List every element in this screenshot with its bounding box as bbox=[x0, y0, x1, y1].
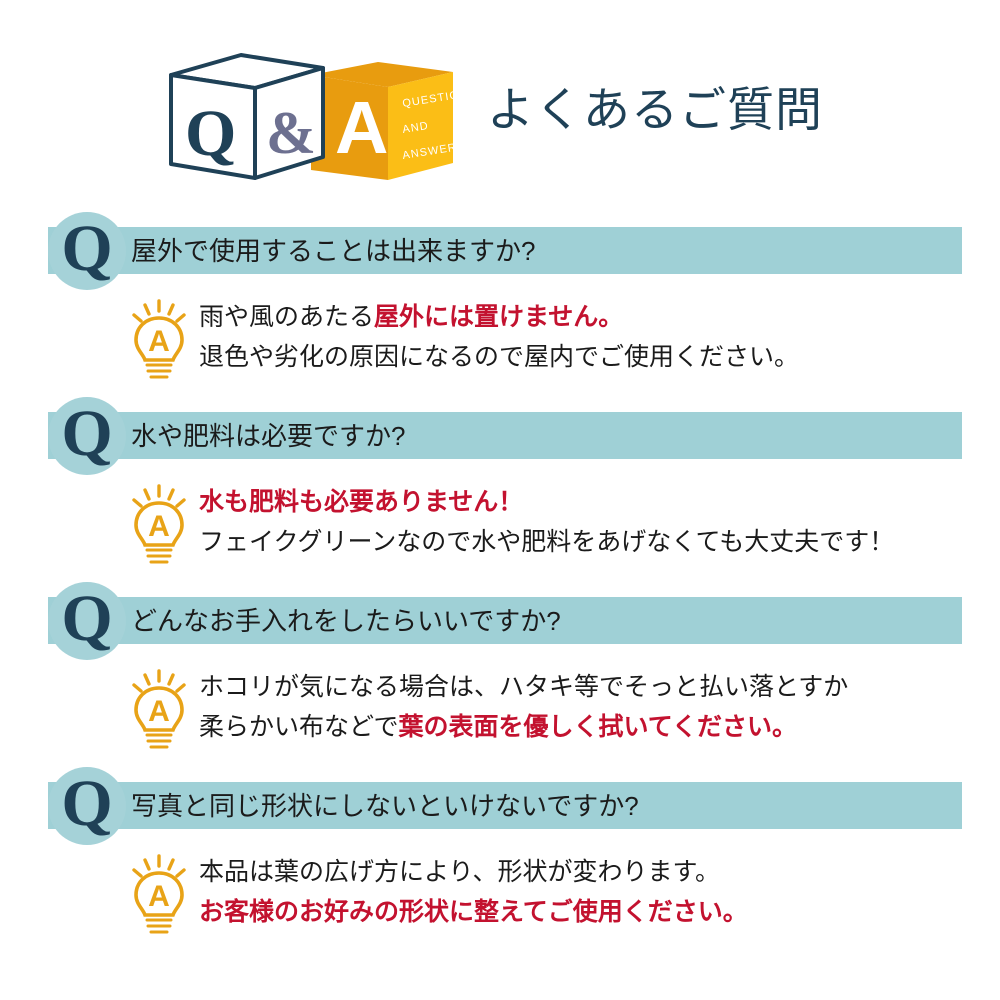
svg-text:A: A bbox=[148, 325, 170, 358]
faq-question-row: Q 写真と同じ形状にしないといけないですか? bbox=[0, 760, 1000, 852]
question-badge: Q bbox=[48, 212, 126, 290]
svg-text:A: A bbox=[148, 880, 170, 913]
faq-question-row: Q 水や肥料は必要ですか? bbox=[0, 390, 1000, 482]
answer-segment-highlight: 屋外には置けません。 bbox=[374, 303, 623, 331]
answer-segment: ホコリが気になる場合は、ハタキ等でそっと払い落とすか bbox=[199, 673, 848, 701]
answer-line: 退色や劣化の原因になるので屋内でご使用ください。 bbox=[199, 337, 799, 377]
white-cube: Q & bbox=[171, 55, 323, 178]
question-badge: Q bbox=[48, 397, 126, 475]
question-letter: Q bbox=[61, 586, 112, 652]
answer-line: 本品は葉の広げ方により、形状が変わります。 bbox=[199, 852, 748, 892]
orange-cube: A QUESTION AND ANSWER bbox=[311, 62, 463, 180]
question-letter: Q bbox=[61, 401, 112, 467]
page-title: よくあるご質問 bbox=[487, 86, 823, 133]
answer-line: ホコリが気になる場合は、ハタキ等でそっと払い落とすか bbox=[199, 667, 848, 707]
question-text: 屋外で使用することは出来ますか? bbox=[131, 232, 535, 270]
question-text: 写真と同じ形状にしないといけないですか? bbox=[131, 787, 639, 825]
answer-text: 雨や風のあたる屋外には置けません。 退色や劣化の原因になるので屋内でご使用くださ… bbox=[199, 297, 799, 377]
question-text: どんなお手入れをしたらいいですか? bbox=[131, 602, 561, 640]
answer-segment: フェイクグリーンなので水や肥料をあげなくても大丈夫です！ bbox=[199, 528, 894, 556]
question-letter: Q bbox=[61, 216, 112, 282]
qa-cube-logo: A QUESTION AND ANSWER Q & bbox=[163, 45, 463, 185]
answer-segment-highlight: お客様のお好みの形状に整えてご使用ください。 bbox=[199, 898, 748, 926]
answer-segment-highlight: 水も肥料も必要ありません！ bbox=[199, 488, 523, 516]
qa-cube-logo-svg: A QUESTION AND ANSWER Q & bbox=[163, 45, 463, 185]
answer-line: フェイクグリーンなので水や肥料をあげなくても大丈夫です！ bbox=[199, 522, 894, 562]
faq-list: Q 屋外で使用することは出来ますか? bbox=[0, 205, 1000, 945]
answer-segment: 柔らかい布などで bbox=[199, 713, 399, 741]
faq-question-row: Q 屋外で使用することは出来ますか? bbox=[0, 205, 1000, 297]
question-text: 水や肥料は必要ですか? bbox=[131, 417, 405, 455]
answer-text: 本品は葉の広げ方により、形状が変わります。 お客様のお好みの形状に整えてご使用く… bbox=[199, 852, 748, 932]
question-letter: Q bbox=[61, 771, 112, 837]
lightbulb-answer-icon: A bbox=[128, 669, 190, 755]
faq-item: Q どんなお手入れをしたらいいですか? bbox=[0, 575, 1000, 760]
answer-segment: 雨や風のあたる bbox=[199, 303, 374, 331]
svg-text:A: A bbox=[148, 695, 170, 728]
answer-segment: 本品は葉の広げ方により、形状が変わります。 bbox=[199, 858, 720, 886]
faq-item: Q 水や肥料は必要ですか? bbox=[0, 390, 1000, 575]
lightbulb-answer-icon: A bbox=[128, 299, 190, 385]
svg-text:&: & bbox=[266, 100, 316, 166]
faq-question-row: Q どんなお手入れをしたらいいですか? bbox=[0, 575, 1000, 667]
answer-segment: 退色や劣化の原因になるので屋内でご使用ください。 bbox=[199, 343, 799, 371]
faq-item: Q 屋外で使用することは出来ますか? bbox=[0, 205, 1000, 390]
question-badge: Q bbox=[48, 582, 126, 660]
question-badge: Q bbox=[48, 767, 126, 845]
lightbulb-answer-icon: A bbox=[128, 854, 190, 940]
answer-text: ホコリが気になる場合は、ハタキ等でそっと払い落とすか 柔らかい布などで葉の表面を… bbox=[199, 667, 848, 747]
svg-text:A: A bbox=[148, 510, 170, 543]
page-header: A QUESTION AND ANSWER Q & よくあるご質問 bbox=[0, 0, 1000, 205]
svg-text:Q: Q bbox=[185, 97, 236, 170]
answer-line: 水も肥料も必要ありません！ bbox=[199, 482, 894, 522]
svg-text:A: A bbox=[335, 86, 388, 169]
lightbulb-answer-icon: A bbox=[128, 484, 190, 570]
answer-line: お客様のお好みの形状に整えてご使用ください。 bbox=[199, 892, 748, 932]
faq-item: Q 写真と同じ形状にしないといけないですか? bbox=[0, 760, 1000, 945]
answer-line: 雨や風のあたる屋外には置けません。 bbox=[199, 297, 799, 337]
answer-line: 柔らかい布などで葉の表面を優しく拭いてください。 bbox=[199, 707, 848, 747]
answer-text: 水も肥料も必要ありません！ フェイクグリーンなので水や肥料をあげなくても大丈夫で… bbox=[199, 482, 894, 562]
answer-segment-highlight: 葉の表面を優しく拭いてください。 bbox=[399, 713, 798, 741]
